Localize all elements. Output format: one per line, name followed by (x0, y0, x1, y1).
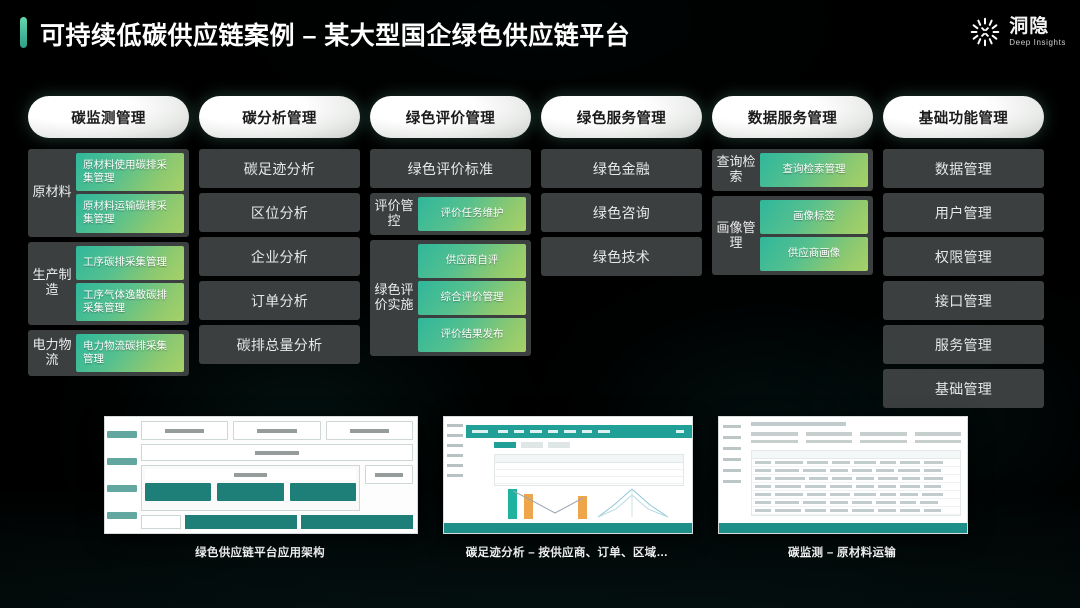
page-title: 可持续低碳供应链案例 – 某大型国企绿色供应链平台 (40, 16, 630, 52)
menu-label: 碳足迹分析 (199, 149, 360, 188)
table-row (752, 491, 960, 499)
column-basic-function: 基础功能管理 数据管理 用户管理 权限管理 接口管理 服务管理 基础管理 (883, 96, 1044, 413)
menu-item[interactable]: 企业分析 (199, 237, 360, 276)
arch-box (326, 421, 413, 440)
leaf-item[interactable]: 评价任务维护 (418, 197, 526, 231)
thumbnail-image-1 (104, 416, 418, 534)
leaf-item[interactable]: 原材料使用碳排采集管理 (76, 153, 184, 191)
menu-item[interactable]: 用户管理 (883, 193, 1044, 232)
table-header (495, 455, 683, 463)
data-table (751, 450, 961, 516)
group-profile-management[interactable]: 画像管理 画像标签 供应商画像 (712, 196, 873, 275)
footer-bar (444, 523, 692, 533)
arch-chip (217, 483, 283, 501)
screenshot-gallery: 绿色供应链平台应用架构 (0, 416, 1080, 591)
leaf-item[interactable]: 电力物流碳排采集管理 (76, 334, 184, 372)
breadcrumb (751, 422, 846, 426)
table-row (752, 459, 960, 467)
arch-chip (290, 483, 356, 501)
column-header-1[interactable]: 碳监测管理 (28, 96, 189, 138)
table-row (495, 477, 683, 484)
content-tabs (494, 442, 570, 448)
menu-label: 绿色金融 (541, 149, 702, 188)
group-evaluation-execution[interactable]: 绿色评价实施 供应商自评 综合评价管理 评价结果发布 (370, 240, 531, 356)
menu-item[interactable]: 碳足迹分析 (199, 149, 360, 188)
filter-form (751, 432, 961, 443)
arch-chip (301, 515, 413, 529)
menu-label: 碳排总量分析 (199, 325, 360, 364)
menu-item[interactable]: 服务管理 (883, 325, 1044, 364)
arch-chip-row (145, 483, 356, 501)
thumbnail-architecture[interactable]: 绿色供应链平台应用架构 (104, 416, 416, 560)
arch-box (141, 515, 181, 529)
arch-chip (145, 483, 211, 501)
thumbnail-monitoring[interactable]: 碳监测 – 原材料运输 (718, 416, 966, 560)
logo-name-cn: 洞隐 (1009, 17, 1066, 36)
thumbnail-image-3 (718, 416, 968, 534)
line-chart (594, 485, 674, 519)
title-accent-bar (20, 17, 27, 48)
leaf-item[interactable]: 供应商自评 (418, 244, 526, 278)
module-columns: 碳监测管理 原材料 原材料使用碳排采集管理 原材料运输碳排采集管理 生产制造 工… (28, 96, 1054, 413)
leaf-item[interactable]: 评价结果发布 (418, 318, 526, 352)
group-items: 电力物流碳排采集管理 (76, 330, 189, 376)
group-evaluation-control[interactable]: 评价管控 评价任务维护 (370, 193, 531, 235)
leaf-item[interactable]: 查询检索管理 (760, 153, 868, 187)
menu-item[interactable]: 绿色金融 (541, 149, 702, 188)
group-items: 画像标签 供应商画像 (760, 196, 873, 275)
browser-chrome (466, 417, 692, 425)
column-carbon-analysis: 碳分析管理 碳足迹分析 区位分析 企业分析 订单分析 碳排总量分析 (199, 96, 360, 413)
table-row (752, 467, 960, 475)
data-table (494, 454, 684, 486)
column-data-service: 数据服务管理 查询检索 查询检索管理 画像管理 画像标签 供应商画像 (712, 96, 873, 413)
leaf-item[interactable]: 原材料运输碳排采集管理 (76, 194, 184, 232)
menu-label: 基础管理 (883, 369, 1044, 408)
group-query-retrieval[interactable]: 查询检索 查询检索管理 (712, 149, 873, 191)
table-row (752, 499, 960, 507)
group-items: 原材料使用碳排采集管理 原材料运输碳排采集管理 (76, 149, 189, 237)
group-label: 生产制造 (28, 242, 76, 325)
arch-box (141, 421, 228, 440)
app-sidebar (444, 417, 467, 533)
group-label: 绿色评价实施 (370, 240, 418, 356)
arch-panel-monitoring (141, 465, 360, 511)
arch-chip (185, 515, 297, 529)
menu-item[interactable]: 权限管理 (883, 237, 1044, 276)
group-label: 电力物流 (28, 330, 76, 376)
logo-name-en: Deep Insights (1009, 39, 1066, 47)
column-carbon-monitoring: 碳监测管理 原材料 原材料使用碳排采集管理 原材料运输碳排采集管理 生产制造 工… (28, 96, 189, 413)
table-row (495, 470, 683, 477)
menu-label: 订单分析 (199, 281, 360, 320)
app-navbar (466, 425, 692, 438)
menu-label: 权限管理 (883, 237, 1044, 276)
menu-item[interactable]: 碳排总量分析 (199, 325, 360, 364)
group-items: 供应商自评 综合评价管理 评价结果发布 (418, 240, 531, 356)
menu-item[interactable]: 绿色技术 (541, 237, 702, 276)
thumbnail-image-2 (443, 416, 693, 534)
menu-label: 数据管理 (883, 149, 1044, 188)
logo-text: 洞隐 Deep Insights (1009, 17, 1066, 47)
group-power-logistics[interactable]: 电力物流 电力物流碳排采集管理 (28, 330, 189, 376)
column-header-5[interactable]: 数据服务管理 (712, 96, 873, 138)
group-label: 原材料 (28, 149, 76, 237)
column-header-3[interactable]: 绿色评价管理 (370, 96, 531, 138)
group-label: 评价管控 (370, 193, 418, 235)
group-label: 画像管理 (712, 196, 760, 275)
group-label: 查询检索 (712, 149, 760, 191)
table-row (752, 483, 960, 491)
table-row (752, 475, 960, 483)
menu-label: 绿色评价标准 (370, 149, 531, 188)
leaf-item[interactable]: 工序气体逸散碳排采集管理 (76, 283, 184, 321)
thumbnail-footprint[interactable]: 碳足迹分析 – 按供应商、订单、区域… (443, 416, 691, 560)
leaf-item[interactable]: 工序碳排采集管理 (76, 246, 184, 280)
menu-label: 绿色技术 (541, 237, 702, 276)
table-row (495, 463, 683, 470)
menu-label: 区位分析 (199, 193, 360, 232)
arch-panel-title (145, 469, 356, 480)
footer-bar (719, 523, 967, 533)
brand-logo: 洞隐 Deep Insights (966, 13, 1066, 51)
menu-item[interactable]: 数据管理 (883, 149, 1044, 188)
menu-item[interactable]: 接口管理 (883, 281, 1044, 320)
thumbnail-caption-2: 碳足迹分析 – 按供应商、订单、区域… (443, 544, 691, 560)
column-header-4[interactable]: 绿色服务管理 (541, 96, 702, 138)
menu-item[interactable]: 绿色咨询 (541, 193, 702, 232)
menu-label: 接口管理 (883, 281, 1044, 320)
tab-active (494, 442, 516, 448)
arch-body (141, 421, 413, 529)
thumbnail-caption-3: 碳监测 – 原材料运输 (718, 544, 966, 560)
leaf-item[interactable]: 供应商画像 (760, 237, 868, 271)
arch-sidebar (105, 417, 139, 533)
arch-row-services (141, 421, 413, 440)
app-sidebar (719, 417, 746, 533)
tab (548, 442, 570, 448)
menu-label: 服务管理 (883, 325, 1044, 364)
menu-item[interactable]: 订单分析 (199, 281, 360, 320)
group-raw-material[interactable]: 原材料 原材料使用碳排采集管理 原材料运输碳排采集管理 (28, 149, 189, 237)
leaf-item[interactable]: 综合评价管理 (418, 281, 526, 315)
group-items: 评价任务维护 (418, 193, 531, 235)
tab (521, 442, 543, 448)
column-green-evaluation: 绿色评价管理 绿色评价标准 评价管控 评价任务维护 绿色评价实施 供应商自评 综… (370, 96, 531, 413)
app-content (745, 417, 967, 523)
table-row (752, 507, 960, 515)
arch-box-aux (365, 465, 413, 484)
column-header-2[interactable]: 碳分析管理 (199, 96, 360, 138)
group-manufacturing[interactable]: 生产制造 工序碳排采集管理 工序气体逸散碳排采集管理 (28, 242, 189, 325)
menu-item[interactable]: 绿色评价标准 (370, 149, 531, 188)
column-green-service: 绿色服务管理 绿色金融 绿色咨询 绿色技术 (541, 96, 702, 413)
group-items: 查询检索管理 (760, 149, 873, 191)
arch-row-analysis (141, 444, 413, 461)
menu-item[interactable]: 区位分析 (199, 193, 360, 232)
arch-row-standards (141, 515, 413, 529)
menu-label: 用户管理 (883, 193, 1044, 232)
logo-burst-icon (966, 13, 1004, 51)
app-content (466, 438, 692, 523)
menu-item[interactable]: 基础管理 (883, 369, 1044, 408)
menu-label: 绿色咨询 (541, 193, 702, 232)
leaf-item[interactable]: 画像标签 (760, 200, 868, 234)
arch-box (233, 421, 320, 440)
menu-label: 企业分析 (199, 237, 360, 276)
page-header: 可持续低碳供应链案例 – 某大型国企绿色供应链平台 (0, 0, 1080, 66)
column-header-6[interactable]: 基础功能管理 (883, 96, 1044, 138)
table-header (752, 451, 960, 459)
thumbnail-caption-1: 绿色供应链平台应用架构 (104, 544, 416, 560)
group-items: 工序碳排采集管理 工序气体逸散碳排采集管理 (76, 242, 189, 325)
